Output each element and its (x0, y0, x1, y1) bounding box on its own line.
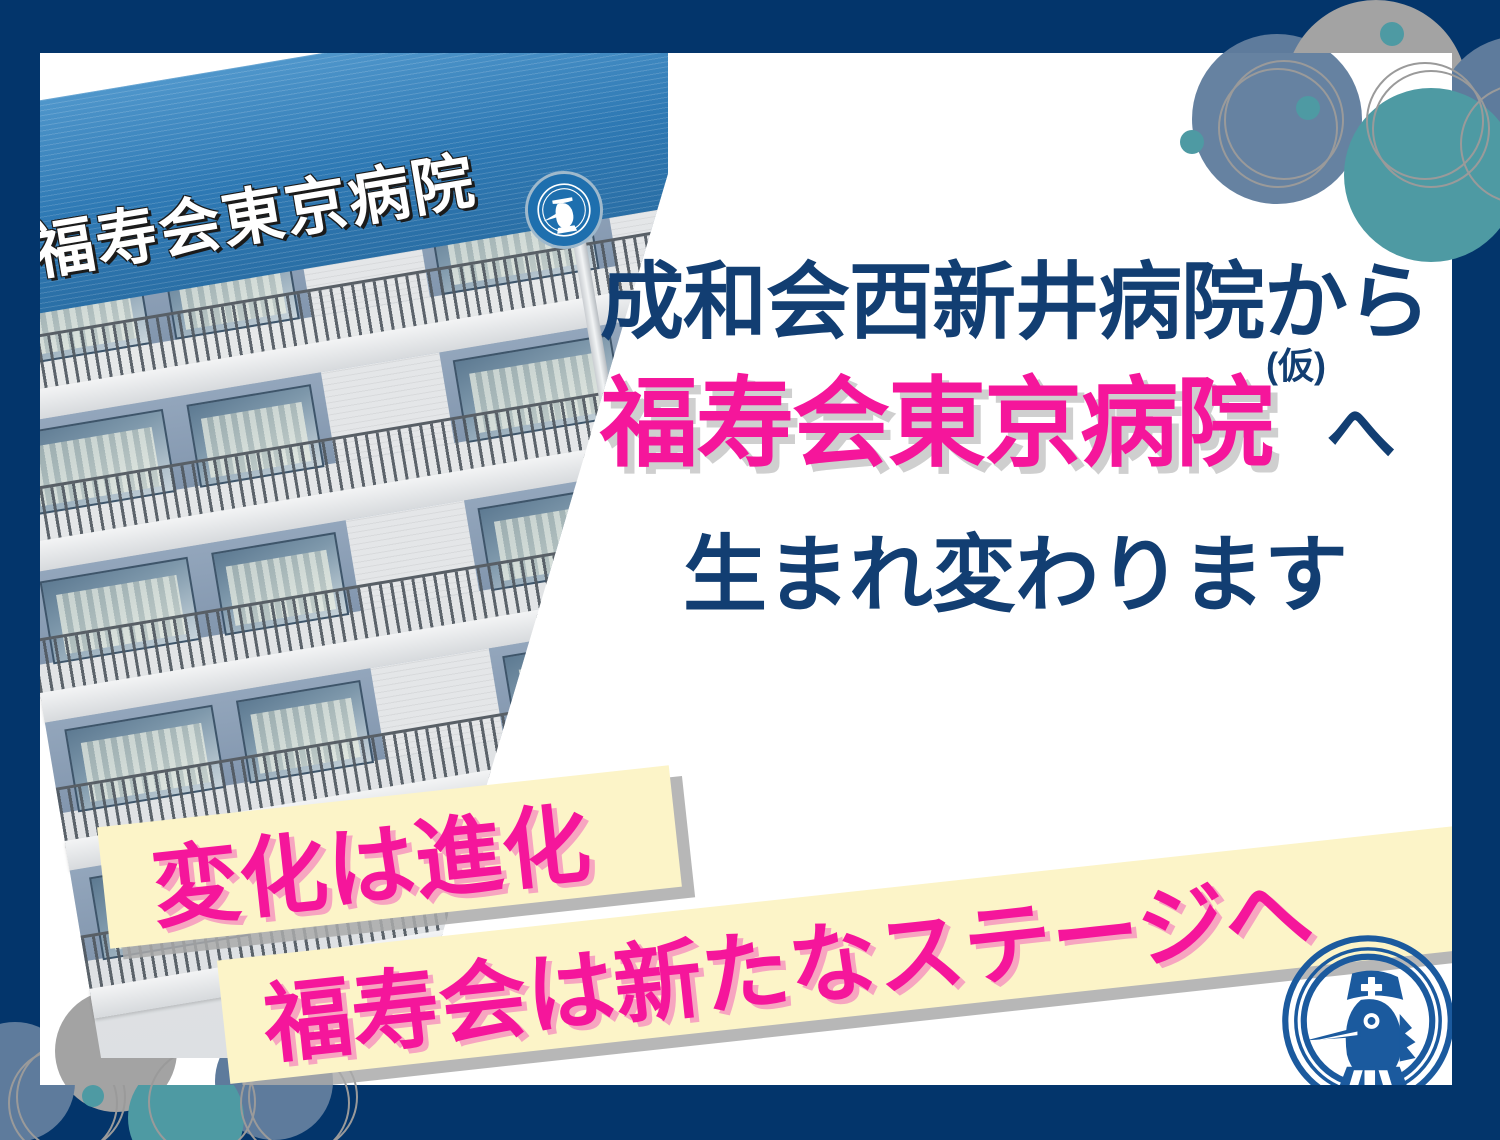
headline-line-3: 生まれ変わります (600, 508, 1452, 629)
headline-particle: へ (1326, 394, 1396, 472)
headline-block: 成和会西新井病院から 福寿会東京病院(仮)へ 生まれ変わります (600, 258, 1452, 629)
headline-line-1: 成和会西新井病院から (600, 258, 1452, 346)
fukujukai-logo (1280, 933, 1452, 1085)
deco-ring (1218, 68, 1338, 188)
poster-canvas: 福寿会東京病院 成和会西新井病院から 福寿会東京病院(仮)へ 生まれ変わります … (40, 53, 1452, 1085)
poster-root: 福寿会東京病院 成和会西新井病院から 福寿会東京病院(仮)へ 生まれ変わります … (0, 0, 1500, 1140)
headline-hospital-name: 福寿会東京病院 (600, 368, 1272, 478)
deco-circle-teal-sm (1380, 22, 1404, 46)
headline-line-2: 福寿会東京病院(仮)へ (600, 374, 1452, 472)
deco-circle-teal-sm (1180, 130, 1204, 154)
headline-provisional-mark: (仮) (1266, 348, 1326, 384)
